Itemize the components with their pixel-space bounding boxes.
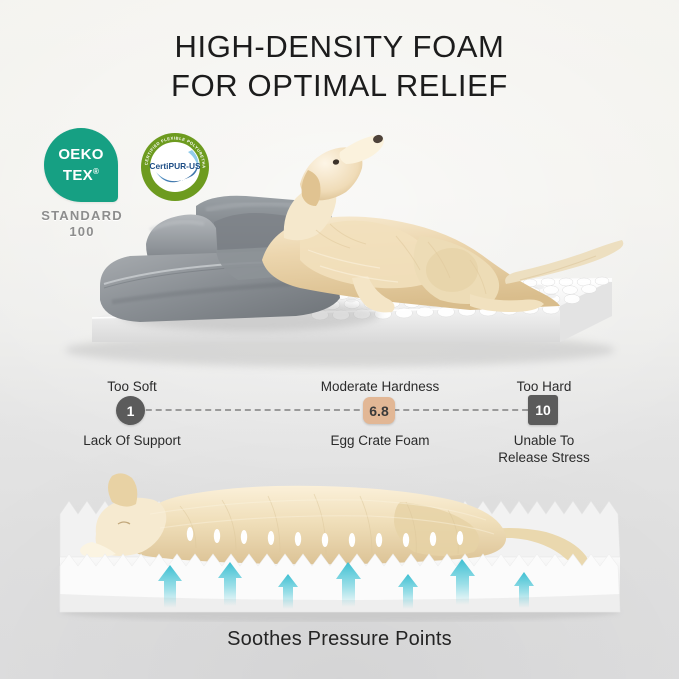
certification-badges: OEKO TEX® STANDARD 100 [36, 128, 226, 258]
svg-text:CertiPUR-US: CertiPUR-US [149, 161, 201, 171]
scale-low-bottom-label: Lack Of Support [60, 432, 204, 449]
oeko-tex-line-1: OEKO [58, 146, 103, 163]
scale-mid-bottom-label: Egg Crate Foam [304, 432, 456, 449]
hardness-scale: Too Soft Moderate Hardness Too Hard 1 6.… [0, 378, 679, 473]
foam-profile-front [60, 554, 620, 612]
oeko-tex-line-2: TEX® [63, 163, 99, 184]
scale-mid-top-label: Moderate Hardness [304, 378, 456, 395]
page-title: HIGH-DENSITY FOAM FOR OPTIMAL RELIEF [0, 27, 679, 105]
scale-track-line [126, 409, 538, 413]
oeko-tex-standard-label: STANDARD 100 [36, 208, 128, 240]
headline-line-2: FOR OPTIMAL RELIEF [0, 66, 679, 105]
infographic-page: HIGH-DENSITY FOAM FOR OPTIMAL RELIEF [0, 0, 679, 679]
scale-marker-mid: 6.8 [363, 397, 395, 424]
pressure-relief-illustration [0, 462, 679, 622]
oeko-tex-badge: OEKO TEX® [44, 128, 118, 202]
scale-low-top-label: Too Soft [72, 378, 192, 395]
scale-high-bottom-label: Unable To Release Stress [483, 432, 605, 466]
scale-marker-high: 10 [528, 395, 558, 425]
scale-marker-low: 1 [116, 396, 145, 425]
scene-caption: Soothes Pressure Points [0, 628, 679, 651]
scale-high-top-label: Too Hard [483, 378, 605, 395]
certipur-us-badge: COMPANY CERTIFIED FLEXIBLE POLYURETHANE … [140, 132, 210, 202]
headline-line-1: HIGH-DENSITY FOAM [0, 27, 679, 66]
registered-mark-icon: ® [93, 167, 99, 176]
